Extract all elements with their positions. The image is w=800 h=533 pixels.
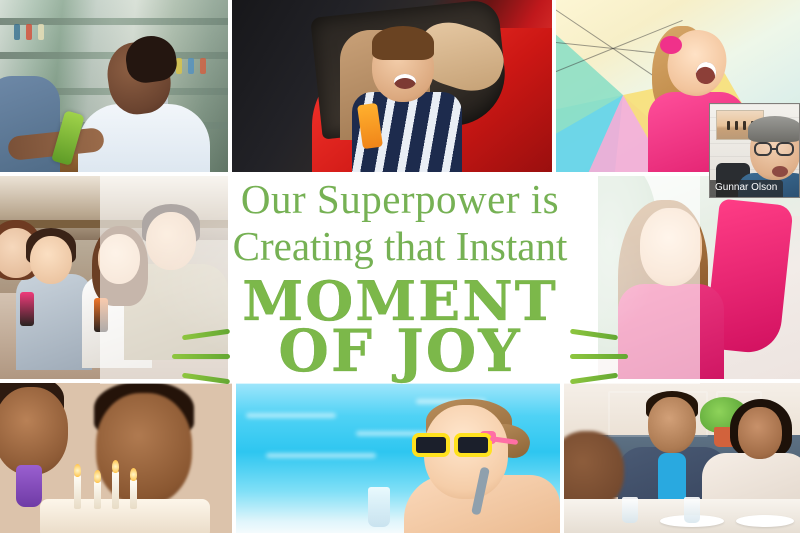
photo-toddler-in-car	[232, 0, 552, 172]
participant-mouth	[772, 166, 788, 177]
photo-pool-sunglasses	[236, 383, 560, 533]
collage-tile-girl-stocking	[598, 176, 800, 379]
eyeglasses-bridge-icon	[772, 148, 778, 150]
photo-family-dinner	[564, 383, 800, 533]
collage-tile-family-dinner	[564, 383, 800, 533]
photo-girl-stocking	[598, 176, 800, 379]
photo-store-interaction	[0, 0, 228, 172]
collage-tile-pool-sunglasses	[236, 383, 560, 533]
eyeglasses-right-icon	[776, 142, 794, 156]
eyeglasses-left-icon	[754, 142, 772, 156]
collage-tile-family-on-couch	[0, 176, 228, 379]
collage-tile-birthday-candles	[0, 383, 232, 533]
photo-family-on-couch	[0, 176, 228, 379]
collage-tile-toddler-in-car	[232, 0, 552, 172]
photo-collage-grid	[0, 0, 800, 533]
collage-tile-store-interaction	[0, 0, 228, 172]
presentation-slide: Our Superpower is Creating that Instant …	[0, 0, 800, 533]
photo-birthday-candles	[0, 383, 232, 533]
webcam-overlay[interactable]: Gunnar Olson	[709, 103, 800, 198]
participant-name-tag: Gunnar Olson	[710, 180, 783, 197]
participant-hair	[748, 116, 800, 142]
